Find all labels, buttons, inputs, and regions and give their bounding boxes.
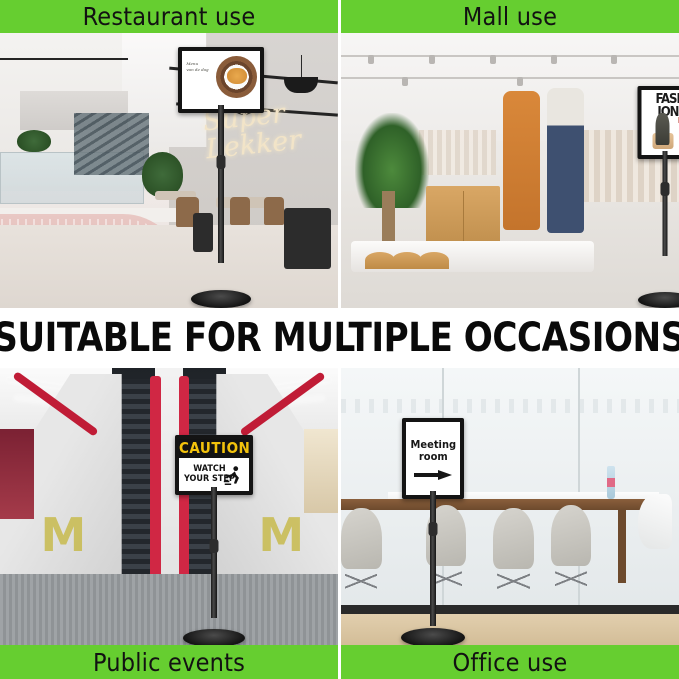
caption-banner-restaurant: Restaurant use	[0, 0, 338, 33]
staircase	[74, 113, 148, 174]
mannequin	[503, 91, 540, 230]
hanging-plant	[17, 130, 51, 152]
spotlight	[429, 55, 435, 64]
sign-frame: CAUTION WATCHYOUR STEP	[175, 435, 253, 495]
chair	[638, 494, 672, 550]
metro-logo-right: M	[258, 508, 304, 562]
chair	[264, 197, 284, 225]
spotlight	[402, 77, 408, 86]
product-collage: Restaurant use	[0, 0, 679, 679]
panel-public-events: M M CAUTION WATCHYOUR STEP	[0, 368, 338, 679]
panel-restaurant: Restaurant use	[0, 0, 338, 308]
sign-stand-office: Meetingroom	[388, 418, 478, 647]
meeting-room-sign: Meetingroom	[406, 422, 460, 495]
height-adjust-knob	[216, 155, 225, 169]
light-track	[341, 55, 679, 57]
wall-display-left	[0, 429, 34, 518]
meeting-room-text: Meetingroom	[411, 439, 457, 464]
metro-logo-left: M	[41, 508, 87, 562]
caution-heading: CAUTION	[179, 439, 249, 458]
sign-stand-public: CAUTION WATCHYOUR STEP	[169, 435, 259, 647]
stand-pole	[662, 151, 667, 256]
frosted-manifestation-band	[341, 399, 679, 413]
sign-stand-restaurant: Menuvan de dag	[176, 47, 266, 308]
wall-display-right	[304, 429, 338, 513]
right-arrow-icon	[414, 470, 452, 479]
wooden-prop	[365, 252, 395, 269]
spotlight	[517, 77, 523, 86]
wooden-prop	[392, 252, 422, 269]
spotlight	[611, 55, 617, 64]
fashion-poster: FASH ION	[641, 90, 679, 155]
mannequin	[547, 88, 584, 233]
sign-frame: Menuvan de dag	[178, 47, 264, 113]
height-adjust-knob	[660, 182, 669, 196]
stand-pole	[430, 491, 436, 626]
headline-text: SUITABLE FOR MULTIPLE OCCASIONS	[0, 315, 679, 361]
sign-frame: FASH ION	[637, 86, 679, 159]
table-leg	[618, 510, 625, 583]
caution-sign: CAUTION WATCHYOUR STEP	[179, 439, 249, 491]
chair	[341, 508, 382, 569]
headline-banner: SUITABLE FOR MULTIPLE OCCASIONS	[0, 308, 679, 368]
bar-stool	[284, 208, 331, 269]
panel-mall: Mall use	[341, 0, 679, 308]
caption-label-mall: Mall use	[463, 2, 557, 31]
stand-base	[638, 292, 679, 308]
food-item	[227, 68, 247, 84]
ceiling-beam	[0, 58, 128, 60]
height-adjust-knob	[210, 539, 219, 553]
caption-banner-mall: Mall use	[341, 0, 679, 33]
poster-text: Menuvan de dag	[186, 61, 217, 73]
chair	[493, 508, 534, 569]
light-track	[341, 77, 679, 79]
sign-frame: Meetingroom	[402, 418, 464, 499]
spotlight	[551, 55, 557, 64]
caption-label-restaurant: Restaurant use	[83, 2, 256, 31]
menu-poster: Menuvan de dag	[182, 51, 260, 109]
caution-body: WATCHYOUR STEP	[179, 458, 249, 491]
panel-office: Meetingroom Office use	[341, 368, 679, 679]
scene-restaurant: Super Lekker Menuvan de dag	[0, 30, 338, 308]
stand-base	[191, 290, 251, 308]
chair	[551, 505, 592, 566]
caption-label-public-events: Public events	[93, 648, 245, 677]
handrail-inner-left	[150, 376, 160, 577]
caption-banner-office: Office use	[341, 645, 679, 679]
conference-table	[341, 499, 645, 510]
stand-pole	[218, 105, 224, 263]
display-cabinet	[426, 186, 500, 247]
scene-office: Meetingroom	[341, 368, 679, 647]
height-adjust-knob	[429, 522, 438, 536]
caption-banner-public-events: Public events	[0, 645, 338, 679]
caption-label-office: Office use	[453, 648, 568, 677]
slip-hazard-icon	[222, 464, 244, 484]
scene-escalator: M M CAUTION WATCHYOUR STEP	[0, 368, 338, 647]
spotlight	[490, 55, 496, 64]
sign-stand-mall: FASH ION	[625, 86, 679, 308]
spotlight	[368, 55, 374, 64]
wooden-prop	[419, 252, 449, 269]
poster-model	[656, 113, 670, 146]
water-bottle	[607, 466, 614, 499]
scene-mall: FASH ION	[341, 30, 679, 308]
